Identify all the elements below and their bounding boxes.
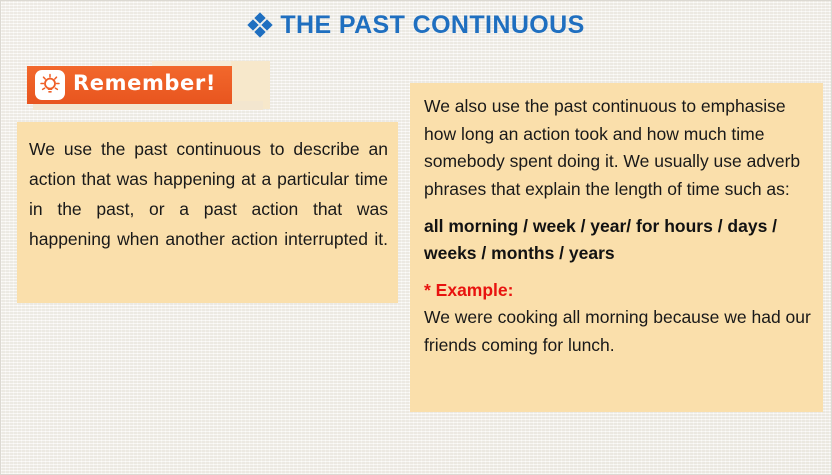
right-panel-phrases: all morning / week / year/ for hours / d… <box>424 213 815 267</box>
diamond-cluster-icon <box>249 14 271 36</box>
right-panel-example-label: * Example: <box>424 278 815 302</box>
right-panel-intro: We also use the past continuous to empha… <box>424 93 815 203</box>
page-title-text: THE PAST CONTINUOUS <box>280 11 584 40</box>
right-panel-example-text: We were cooking all morning because we h… <box>424 304 815 359</box>
right-text-panel: We also use the past continuous to empha… <box>410 83 823 412</box>
badge-label: Remember! <box>73 71 216 95</box>
lightbulb-icon <box>35 70 65 100</box>
left-panel-text: We use the past continuous to describe a… <box>29 134 388 284</box>
left-text-panel: We use the past continuous to describe a… <box>17 122 398 303</box>
slide-canvas: THE PAST CONTINUOUS <box>0 0 832 475</box>
page-title: THE PAST CONTINUOUS <box>1 11 832 40</box>
remember-badge: Remember! <box>27 61 249 111</box>
